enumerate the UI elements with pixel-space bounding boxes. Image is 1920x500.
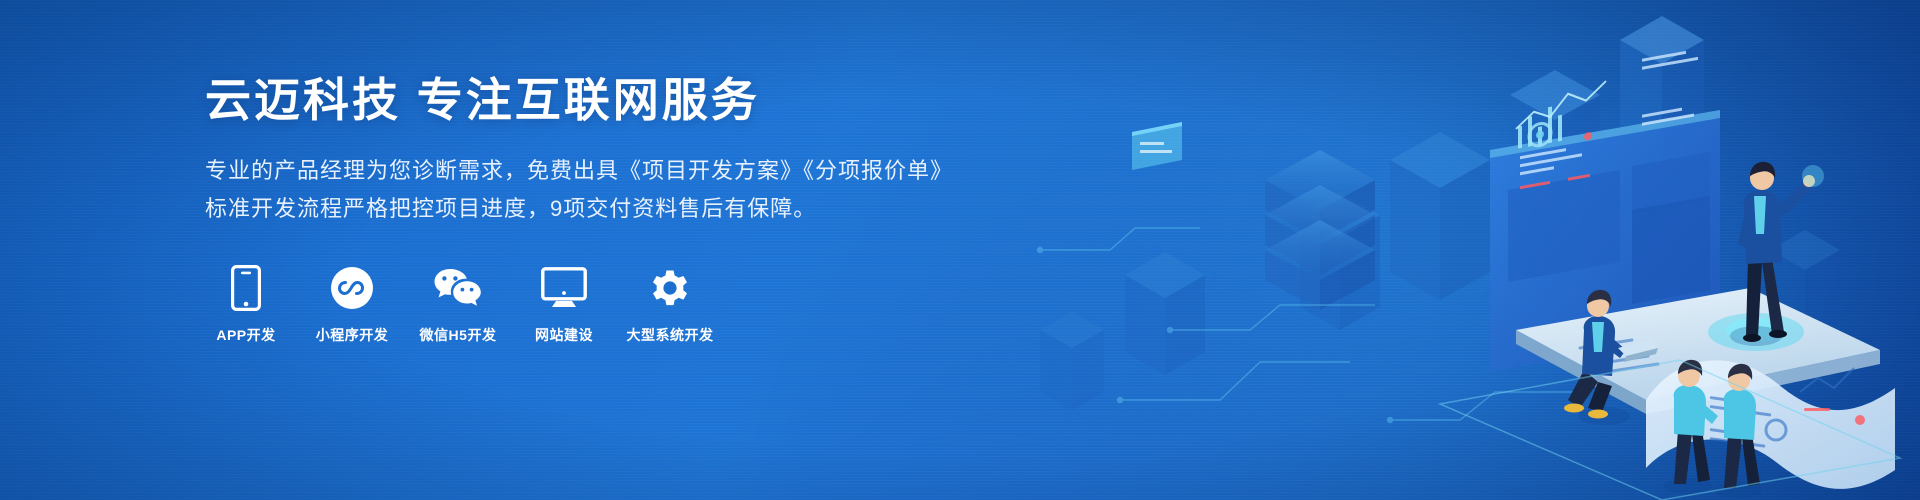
monitor-icon — [541, 265, 587, 311]
service-item-mini-program[interactable]: 小程序开发 — [311, 265, 393, 345]
floating-ui-card — [1132, 122, 1182, 170]
stacked-data-blocks — [1265, 150, 1375, 310]
service-label: 小程序开发 — [316, 325, 389, 345]
service-icon-row: APP开发 小程序开发 — [205, 265, 965, 345]
service-label: 微信H5开发 — [420, 325, 497, 345]
marketing-banner: 云迈科技 专注互联网服务 专业的产品经理为您诊断需求，免费出具《项目开发方案》《… — [0, 0, 1920, 500]
banner-title: 云迈科技 专注互联网服务 — [205, 72, 965, 130]
service-item-wechat[interactable]: 微信H5开发 — [417, 265, 499, 345]
mobile-phone-icon — [231, 265, 261, 311]
mini-program-icon — [330, 265, 374, 311]
wechat-icon — [433, 265, 483, 311]
service-item-website[interactable]: 网站建设 — [523, 265, 605, 345]
subtitle-line-1: 专业的产品经理为您诊断需求，免费出具《项目开发方案》《分项报价单》 — [205, 152, 965, 191]
banner-subtitle: 专业的产品经理为您诊断需求，免费出具《项目开发方案》《分项报价单》 标准开发流程… — [205, 152, 965, 229]
touch-glow — [1802, 165, 1824, 187]
service-label: 大型系统开发 — [627, 325, 714, 345]
banner-content: 云迈科技 专注互联网服务 专业的产品经理为您诊断需求，免费出具《项目开发方案》《… — [205, 72, 965, 345]
gear-icon — [648, 265, 692, 311]
service-item-large-system[interactable]: 大型系统开发 — [629, 265, 711, 345]
service-label: 网站建设 — [535, 325, 593, 345]
service-item-app[interactable]: APP开发 — [205, 265, 287, 345]
service-label: APP开发 — [216, 325, 275, 345]
subtitle-line-2: 标准开发流程严格把控项目进度，9项交付资料售后有保障。 — [205, 190, 965, 229]
hero-illustration — [920, 0, 1920, 500]
